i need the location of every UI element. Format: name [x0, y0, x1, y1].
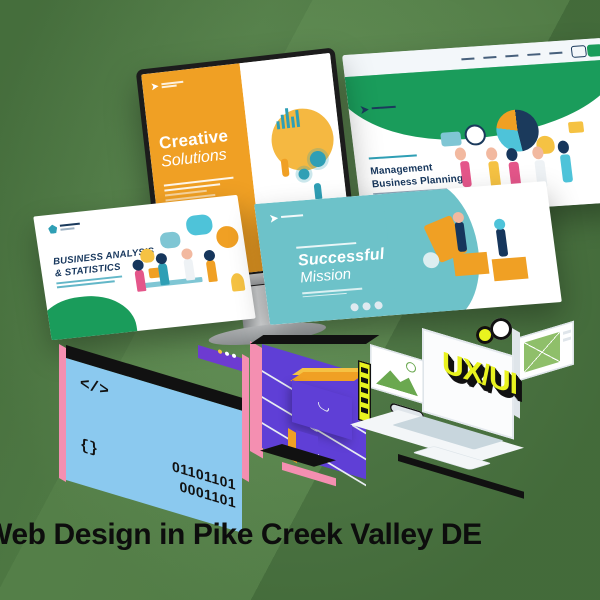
hero-graphic: Management Business Planning: [0, 0, 600, 600]
nav-dash: [527, 53, 540, 56]
wireframe-box: [524, 332, 560, 373]
person-figure: [496, 228, 509, 256]
gear-icon: [215, 225, 240, 249]
eyebrow-rule: [369, 154, 417, 159]
chat-bubble-icon: [440, 131, 462, 146]
code-tag-icon: </>: [80, 374, 109, 401]
cabinet-top-panel: [250, 335, 379, 344]
toolbar-palette: [358, 360, 371, 424]
iso-ux-ui-laptop: UX/UI: [386, 322, 586, 494]
person-head: [155, 253, 168, 265]
person-figure: [134, 269, 146, 292]
page-title: Web Design in Pike Creek Valley DE: [0, 518, 482, 552]
wireframe-sidebar-line: [563, 330, 571, 335]
person-figure: [206, 260, 218, 283]
nav-button: [571, 45, 587, 58]
drawer-handle: [318, 402, 329, 414]
binary-text: 01101101 0001101: [172, 458, 236, 512]
person-head: [485, 147, 498, 161]
person-head: [557, 140, 570, 154]
plant-icon: [230, 273, 246, 292]
nav-dash: [505, 55, 518, 58]
iso-code-window: </> {} 01101101 0001101: [66, 358, 242, 480]
person-figure: [183, 258, 195, 281]
card-successful-mission: Successful Mission: [254, 181, 562, 325]
wireframe-sidebar-line: [563, 337, 571, 342]
card-business-analysis: BUSINESS ANALYSIS & STATISTICS: [33, 195, 255, 340]
nav-cta-button: [587, 44, 600, 57]
chat-bubble-icon: [159, 231, 181, 249]
nav-dash: [483, 56, 496, 59]
chat-bubble-icon: [185, 214, 214, 237]
sun-icon: [406, 361, 416, 374]
person-figure: [560, 154, 573, 182]
wireframe-panel: [516, 321, 574, 382]
window-right-edge: [242, 354, 249, 482]
gear-icon: [490, 318, 512, 340]
window-left-edge: [59, 344, 66, 482]
person-figure: [158, 263, 170, 286]
person-head: [454, 147, 467, 161]
bar-chart-illustration: [275, 105, 300, 129]
coin-icon: [568, 121, 584, 133]
person-head: [203, 250, 216, 262]
code-brace-icon: {}: [80, 436, 98, 458]
card-heading: Management Business Planning: [370, 159, 464, 191]
step-block: [492, 257, 529, 281]
person-figure: [460, 161, 472, 187]
person-head: [181, 248, 194, 260]
folder-front: [290, 372, 367, 381]
nav-dash: [549, 52, 562, 55]
nav-dash: [461, 57, 474, 60]
